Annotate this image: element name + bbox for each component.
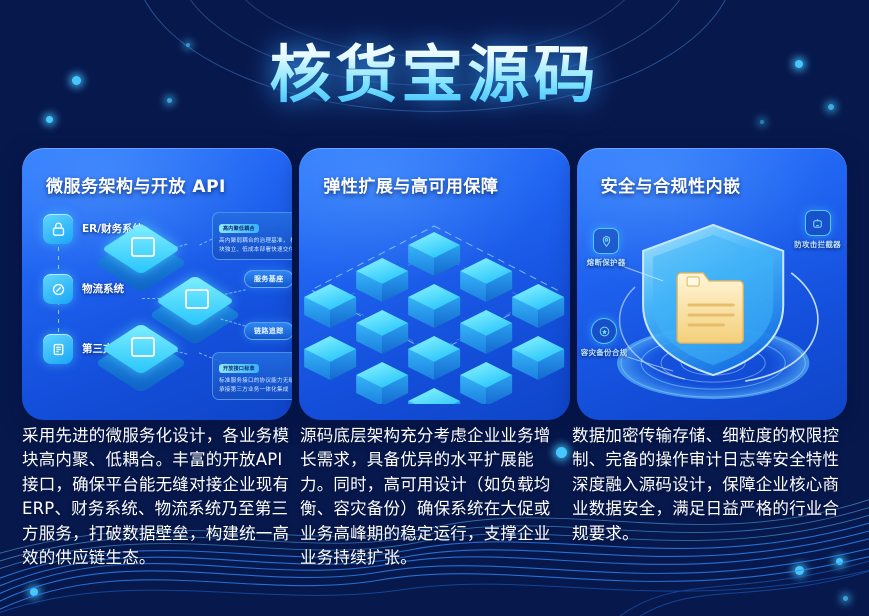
note-body-2: 标准服务接口的协议能力无缝 承接第三方业务一体化集成: [219, 377, 292, 395]
service-node-cube: [172, 278, 218, 324]
annotation-note-1: 高内聚低耦合 高内聚弱耦合的治理基准， 模块独立、低成本部署快速交付: [212, 212, 292, 260]
description-security: 数据加密传输存储、细粒度的权限控制、完备的操作审计日志等安全特性深度融入源码设计…: [572, 424, 844, 570]
page-title: 核货宝源码: [0, 24, 869, 114]
node-glyph: [131, 337, 155, 357]
glow-dot: [760, 120, 764, 124]
system-label-logistics: 物流系统: [82, 281, 124, 296]
feature-card-security[interactable]: 安全与合规性内嵌: [577, 148, 847, 420]
card-title-3: 安全与合规性内嵌: [601, 172, 741, 197]
security-node-label-3: 容灾备份合规: [581, 347, 628, 358]
topology-pill-2: 链路追踪: [244, 322, 292, 340]
security-node-label-2: 防攻击拦截器: [794, 239, 841, 250]
description-row: 采用先进的微服务化设计，各业务模块高内聚、低耦合。丰富的开放API接口，确保平台…: [22, 424, 854, 570]
logistics-system-icon: [43, 274, 73, 304]
node-glyph: [185, 289, 209, 309]
security-node-circuit-breaker: 熔断保护器: [587, 228, 626, 268]
note-body-1: 高内聚弱耦合的治理基准， 模块独立、低成本部署快速交付: [219, 237, 292, 255]
card-illustration-cube-grid: [299, 206, 569, 420]
security-node-label-1: 熔断保护器: [587, 257, 626, 268]
note-head-1: 高内聚低耦合: [219, 224, 259, 233]
note-head-2: 开放接口标准: [219, 364, 259, 373]
security-node-backup-compliance: 容灾备份合规: [581, 318, 628, 358]
feature-card-microservice[interactable]: 微服务架构与开放 API ER/财务系统 物流系统 第三方服务: [22, 148, 292, 420]
robot-guard-icon: [805, 210, 831, 236]
feature-card-row: 微服务架构与开放 API ER/财务系统 物流系统 第三方服务: [22, 148, 847, 420]
node-glyph: [131, 237, 155, 257]
card-title-1: 微服务架构与开放 API: [46, 172, 226, 197]
card-title-2: 弹性扩展与高可用保障: [323, 172, 498, 197]
feature-card-scalability[interactable]: 弹性扩展与高可用保障: [299, 148, 569, 420]
isometric-cube-grid: [299, 214, 569, 404]
erp-system-icon: [43, 214, 73, 244]
star-badge-icon: [591, 318, 617, 344]
thirdparty-service-icon: [43, 334, 73, 364]
card-illustration-microservice: ER/财务系统 物流系统 第三方服务: [22, 206, 292, 420]
topology-pill-1: 服务基座: [244, 270, 292, 288]
description-microservice: 采用先进的微服务化设计，各业务模块高内聚、低耦合。丰富的开放API接口，确保平台…: [22, 424, 290, 570]
glow-dot: [30, 588, 38, 596]
service-node-cube: [118, 226, 164, 272]
service-node-cube: [118, 326, 164, 372]
glow-dot: [46, 116, 53, 123]
glow-dot: [843, 596, 848, 601]
shield-pin-icon: [593, 228, 619, 254]
card-illustration-shield: 熔断保护器 防攻击拦截器 容灾备份合规: [577, 206, 847, 420]
security-node-attack-blocker: 防攻击拦截器: [794, 210, 841, 250]
poster-canvas: 核货宝源码 微服务架构与开放 API ER/财务系统 物流系统 第三方服务: [0, 0, 869, 616]
description-scalability: 源码底层架构充分考虑企业业务增长需求，具备优异的水平扩展能力。同时，高可用设计（…: [300, 424, 562, 570]
annotation-note-2: 开放接口标准 标准服务接口的协议能力无缝 承接第三方业务一体化集成: [212, 352, 292, 400]
